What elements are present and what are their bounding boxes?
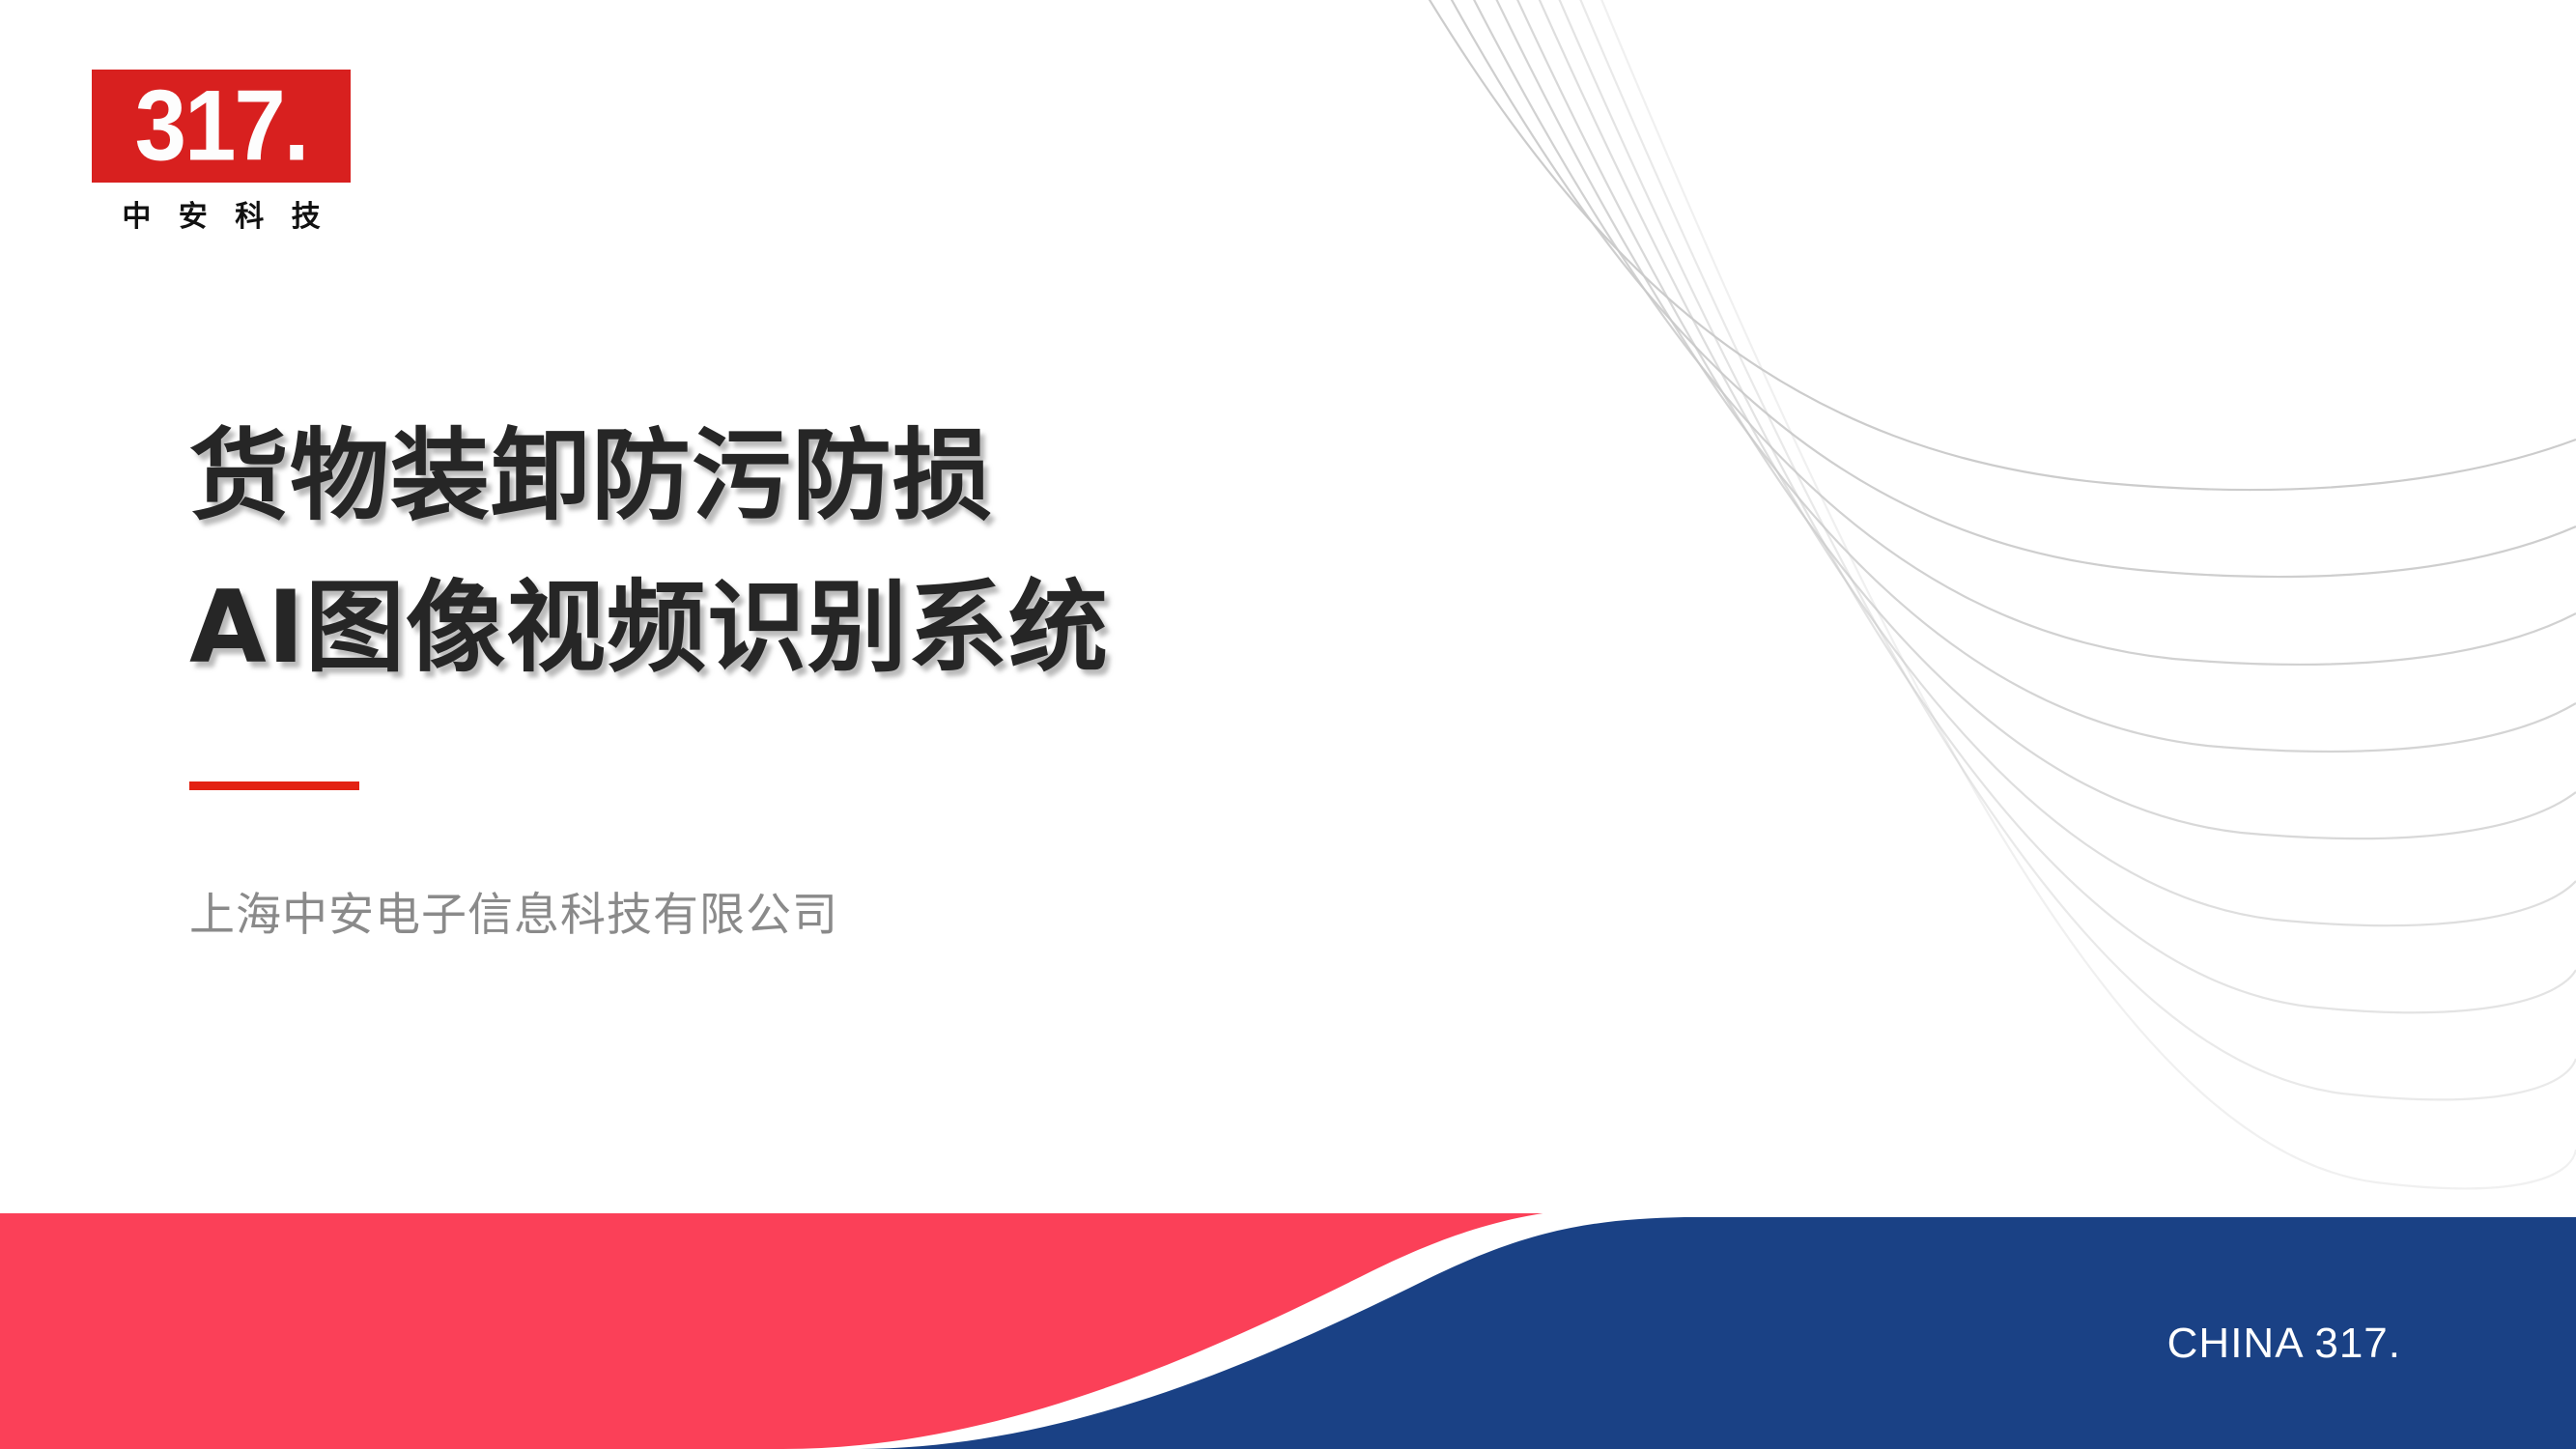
page-title: 货物装卸防污防损 AI图像视频识别系统 — [189, 401, 1542, 703]
logo-company-name-cn: 中 安 科 技 — [92, 192, 351, 235]
subtitle-company-name: 上海中安电子信息科技有限公司 — [189, 877, 838, 944]
logo-mark-317: 317. — [92, 70, 351, 183]
logo-mark-label: 317. — [135, 76, 308, 177]
title-divider-rule — [189, 781, 359, 790]
slide-canvas: 317. 中 安 科 技 货物装卸防污防损 AI图像视频识别系统 上海中安电子信… — [0, 0, 2576, 1449]
page-title-line-1: 货物装卸防污防损 — [189, 401, 1542, 553]
footer-brand-text: CHINA 317. — [2167, 1320, 2401, 1368]
page-title-line-2: AI图像视频识别系统 — [189, 553, 1542, 704]
company-logo: 317. 中 安 科 技 — [92, 70, 357, 235]
